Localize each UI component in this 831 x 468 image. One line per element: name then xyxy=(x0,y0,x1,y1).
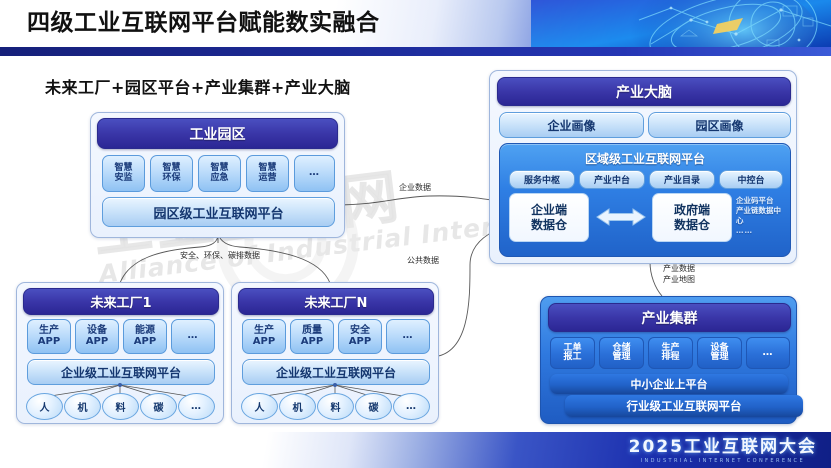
future-factory-n-title: 未来工厂N xyxy=(238,288,434,315)
label-industry-data-line2: 产业地图 xyxy=(663,274,723,285)
ffn-app-2[interactable]: 安全 APP xyxy=(338,319,382,354)
regional-tile-2[interactable]: 产业目录 xyxy=(649,170,715,189)
ff1-app-1-line2: APP xyxy=(86,337,108,348)
future-factory-1-panel: 未来工厂1 生产 APP 设备 APP 能源 APP … 企业级工业互联网平台 … xyxy=(16,282,224,424)
ffn-app-2-line2: APP xyxy=(349,337,371,348)
conference-logo: 2025工业互联网大会 INDUSTRIAL INTERNET CONFEREN… xyxy=(629,438,817,465)
cluster-tile-2[interactable]: 生产 排程 xyxy=(648,337,693,369)
cluster-tile-3-line2: 管理 xyxy=(710,353,728,362)
label-industry-data-line1: 产业数据 xyxy=(663,263,723,274)
park-tile-3[interactable]: 智慧 运营 xyxy=(246,155,289,192)
park-tile-0-line2: 安监 xyxy=(114,174,132,183)
cluster-platform-1[interactable]: 行业级工业互联网平台 xyxy=(565,395,803,417)
ff1-element-1[interactable]: 机 xyxy=(64,393,101,420)
ff1-app-2[interactable]: 能源 APP xyxy=(123,319,167,354)
enterprise-portrait[interactable]: 企业画像 xyxy=(499,112,644,138)
regional-tile-0[interactable]: 服务中枢 xyxy=(509,170,575,189)
cluster-tile-0[interactable]: 工单 报工 xyxy=(550,337,595,369)
industry-cluster-title: 产业集群 xyxy=(548,303,791,332)
bidirectional-arrow-icon xyxy=(595,204,647,230)
ffn-app-1[interactable]: 质量 APP xyxy=(290,319,334,354)
park-platform-bar[interactable]: 园区级工业互联网平台 xyxy=(102,197,335,227)
regional-platform-panel: 区域级工业互联网平台 服务中枢 产业中台 产业目录 中控台 企业端 数据仓 政府… xyxy=(499,143,791,257)
park-tile-3-line2: 运营 xyxy=(258,174,276,183)
industrial-park-title: 工业园区 xyxy=(97,118,338,149)
park-tile-more[interactable]: … xyxy=(294,155,335,192)
ff1-app-1-line1: 设备 xyxy=(87,326,107,337)
government-data-warehouse[interactable]: 政府端 数据仓 xyxy=(652,193,732,242)
industrial-park-panel: 工业园区 智慧 安监 智慧 环保 智慧 应急 智慧 运营 … 园区级工业互联网平… xyxy=(90,112,345,238)
ffn-element-0[interactable]: 人 xyxy=(241,393,278,420)
ff1-element-3[interactable]: 碳 xyxy=(140,393,177,420)
ffn-element-3[interactable]: 碳 xyxy=(355,393,392,420)
industry-cluster-panel: 产业集群 工单 报工 仓储 管理 生产 排程 设备 管理 … 中小企业上平台 行… xyxy=(540,296,797,424)
park-tile-2-line2: 应急 xyxy=(210,174,228,183)
park-tile-1-line2: 环保 xyxy=(162,174,180,183)
ff1-element-more[interactable]: … xyxy=(178,393,215,420)
ffn-app-more-label: … xyxy=(403,331,414,342)
regional-tile-1[interactable]: 产业中台 xyxy=(579,170,645,189)
enterprise-warehouse-line1: 企业端 xyxy=(531,203,567,217)
conference-logo-main: 2025工业互联网大会 xyxy=(629,438,817,456)
side-note-1: 产业链数据中心 xyxy=(736,206,786,226)
park-tile-more-label: … xyxy=(309,168,320,179)
regional-side-notes: 企业码平台 产业链数据中心 …… xyxy=(736,196,786,236)
label-industry-data-map: 产业数据 产业地图 xyxy=(663,263,723,285)
header-underline xyxy=(0,47,831,56)
ffn-app-1-line2: APP xyxy=(301,337,323,348)
conference-logo-sub: INDUSTRIAL INTERNET CONFERENCE xyxy=(629,457,817,465)
future-factory-n-panel: 未来工厂N 生产 APP 质量 APP 安全 APP … 企业级工业互联网平台 … xyxy=(231,282,439,424)
ff1-app-1[interactable]: 设备 APP xyxy=(75,319,119,354)
ffn-app-0[interactable]: 生产 APP xyxy=(242,319,286,354)
page-title: 四级工业互联网平台赋能数实融合 xyxy=(27,8,380,38)
cluster-tile-1-line2: 管理 xyxy=(612,353,630,362)
ff1-app-more-label: … xyxy=(188,331,199,342)
government-warehouse-line2: 数据仓 xyxy=(674,218,710,232)
ff1-app-2-line2: APP xyxy=(134,337,156,348)
industry-brain-title: 产业大脑 xyxy=(497,77,791,106)
ff1-app-0-line1: 生产 xyxy=(39,326,59,337)
ffn-app-2-line1: 安全 xyxy=(350,326,370,337)
park-tile-0[interactable]: 智慧 安监 xyxy=(102,155,145,192)
cluster-tile-0-line2: 报工 xyxy=(563,353,581,362)
subtitle: 未来工厂+园区平台+产业集群+产业大脑 xyxy=(45,74,351,98)
industry-brain-panel: 产业大脑 企业画像 园区画像 区域级工业互联网平台 服务中枢 产业中台 产业目录… xyxy=(489,70,797,264)
ffn-app-0-line2: APP xyxy=(253,337,275,348)
ffn-element-2[interactable]: 料 xyxy=(317,393,354,420)
park-portrait[interactable]: 园区画像 xyxy=(648,112,791,138)
label-public-data: 公共数据 xyxy=(393,255,453,266)
ffn-app-1-line1: 质量 xyxy=(302,326,322,337)
cluster-tile-3[interactable]: 设备 管理 xyxy=(697,337,742,369)
park-tile-2[interactable]: 智慧 应急 xyxy=(198,155,241,192)
ffn-element-more[interactable]: … xyxy=(393,393,430,420)
side-note-2: …… xyxy=(736,226,786,236)
slide-footer: 2025工业互联网大会 INDUSTRIAL INTERNET CONFEREN… xyxy=(0,432,831,468)
government-warehouse-line1: 政府端 xyxy=(674,203,710,217)
ffn-element-1[interactable]: 机 xyxy=(279,393,316,420)
enterprise-warehouse-line2: 数据仓 xyxy=(531,218,567,232)
regional-tile-3[interactable]: 中控台 xyxy=(719,170,783,189)
ffn-app-0-line1: 生产 xyxy=(254,326,274,337)
cluster-tile-more-label: … xyxy=(763,348,774,359)
ff1-element-0[interactable]: 人 xyxy=(26,393,63,420)
cluster-platform-0[interactable]: 中小企业上平台 xyxy=(550,374,788,394)
ff1-app-0[interactable]: 生产 APP xyxy=(27,319,71,354)
ff1-element-2[interactable]: 料 xyxy=(102,393,139,420)
ff1-app-0-line2: APP xyxy=(38,337,60,348)
cluster-tile-2-line2: 排程 xyxy=(661,353,679,362)
cluster-tile-more[interactable]: … xyxy=(746,337,790,369)
ff1-app-more[interactable]: … xyxy=(171,319,215,354)
regional-platform-title: 区域级工业互联网平台 xyxy=(500,150,790,167)
cluster-tile-1[interactable]: 仓储 管理 xyxy=(599,337,644,369)
future-factory-1-title: 未来工厂1 xyxy=(23,288,219,315)
label-safety-env-carbon: 安全、环保、碳排数据 xyxy=(160,250,280,261)
label-enterprise-data: 企业数据 xyxy=(385,182,445,193)
ff1-app-2-line1: 能源 xyxy=(135,326,155,337)
slide-canvas: 四级工业互联网平台赋能数实融合 工业互联网 Alliance of Indust… xyxy=(0,0,831,468)
slide-header: 四级工业互联网平台赋能数实融合 xyxy=(0,0,831,56)
enterprise-data-warehouse[interactable]: 企业端 数据仓 xyxy=(509,193,589,242)
park-tile-1[interactable]: 智慧 环保 xyxy=(150,155,193,192)
side-note-0: 企业码平台 xyxy=(736,196,786,206)
ffn-app-more[interactable]: … xyxy=(386,319,430,354)
